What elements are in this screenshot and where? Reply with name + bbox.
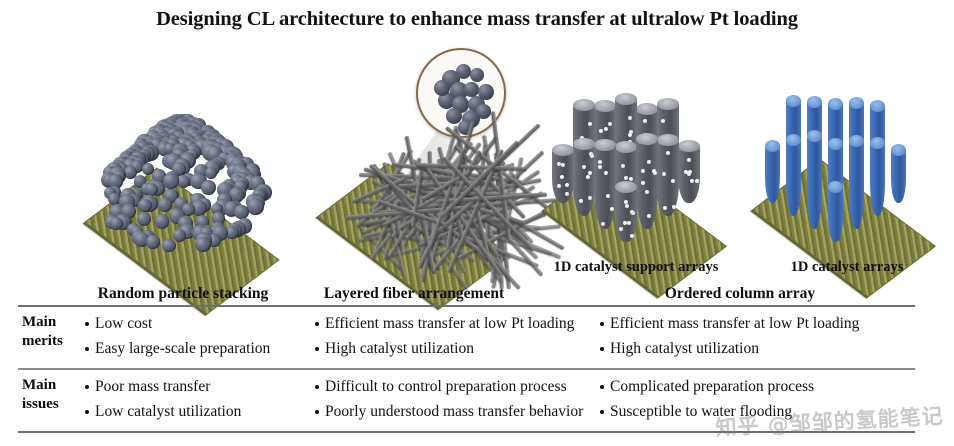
catalyst-rod — [765, 140, 780, 203]
list-item: Difficult to control preparation process — [314, 376, 599, 398]
catalyst-rod — [786, 134, 801, 216]
catalyst-particle — [145, 183, 158, 196]
column-cap — [870, 137, 885, 149]
column-cap — [807, 130, 822, 142]
pt-nanoparticle-dot — [557, 162, 561, 166]
column-cap — [615, 93, 637, 105]
catalyst-support-column — [594, 139, 616, 229]
catalyst-support-column — [678, 140, 700, 203]
scene-layered-fibers — [296, 46, 532, 296]
column-cap — [807, 96, 822, 108]
pt-nanoparticle-dot — [598, 165, 602, 169]
list-item: Low catalyst utilization — [84, 401, 314, 423]
column-body — [594, 145, 616, 229]
catalyst-particle — [247, 198, 263, 214]
catalyst-particle — [137, 212, 151, 226]
column-cap — [552, 144, 574, 156]
list-item: Efficient mass transfer at low Pt loadin… — [314, 313, 599, 335]
column-cap — [636, 133, 658, 145]
column-body — [828, 187, 843, 242]
pt-nanoparticle-dot — [606, 194, 610, 198]
pt-nanoparticle-dot — [582, 165, 586, 169]
catalyst-particle — [162, 239, 175, 252]
pt-nanoparticle-dot — [588, 122, 592, 126]
row-label-line2: merits — [22, 332, 84, 351]
caption-1d-catalyst-support-arrays: 1D catalyst support arrays — [528, 259, 744, 276]
pt-nanoparticle-dot — [653, 171, 657, 175]
caption-layered-fiber-arrangement: Layered fiber arrangement — [296, 285, 532, 303]
pt-nanoparticle-dot — [630, 234, 634, 238]
merits-column-ordered-column-array: Efficient mass transfer at low Pt loadin… — [599, 307, 919, 368]
column-cap — [657, 134, 679, 146]
column-body — [807, 136, 822, 229]
panel-random-particle-stacking — [58, 46, 308, 296]
pt-nanoparticle-dot — [690, 179, 694, 183]
catalyst-particle — [234, 205, 248, 219]
catalyst-rod — [828, 181, 843, 242]
row-label-line1: Main — [22, 376, 84, 395]
row-label-line1: Main — [22, 313, 84, 332]
caption-ordered-column-array: Ordered column array — [530, 285, 950, 303]
merits-column-layered-fiber: Efficient mass transfer at low Pt loadin… — [314, 307, 599, 368]
table-rule-bottom — [18, 431, 915, 433]
pt-nanoparticle-dot — [672, 205, 676, 209]
issues-column-ordered-column-array: Complicated preparation process Suscepti… — [599, 370, 919, 431]
catalyst-rod — [870, 137, 885, 216]
pt-nanoparticle-dot — [601, 222, 605, 226]
list-item: Low cost — [84, 313, 314, 335]
catalyst-support-column — [615, 181, 637, 242]
list-item: Complicated preparation process — [599, 376, 919, 398]
column-cap — [573, 99, 595, 111]
catalyst-rod — [807, 130, 822, 229]
pt-nanoparticle-dot — [619, 227, 623, 231]
column-cap — [891, 144, 906, 156]
issues-column-layered-fiber: Difficult to control preparation process… — [314, 370, 599, 431]
row-label-main-issues: Main issues — [18, 370, 84, 414]
pt-nanoparticle-dot — [663, 206, 667, 210]
column-body — [891, 150, 906, 203]
catalyst-support-column — [552, 144, 574, 203]
catalyst-support-column — [573, 138, 595, 216]
magnified-catalyst-particle — [470, 68, 484, 82]
caption-1d-catalyst-arrays: 1D catalyst arrays — [744, 259, 950, 276]
pt-nanoparticle-dot — [688, 170, 692, 174]
column-cap — [828, 181, 843, 193]
column-cap — [765, 140, 780, 152]
comparison-table: Main merits Low cost Easy large-scale pr… — [18, 305, 915, 433]
column-cap — [594, 100, 616, 112]
column-cap — [657, 98, 679, 110]
table-row-main-issues: Main issues Poor mass transfer Low catal… — [18, 370, 915, 431]
catalyst-particle — [138, 199, 151, 212]
column-cap — [573, 138, 595, 150]
caption-random-particle-stacking: Random particle stacking — [58, 285, 308, 303]
column-body — [849, 141, 864, 229]
column-body — [786, 140, 801, 216]
catalyst-support-column — [636, 133, 658, 229]
fiber-base-slab — [752, 159, 936, 298]
pt-nanoparticle-dot — [630, 210, 634, 214]
column-body — [870, 143, 885, 216]
list-item: High catalyst utilization — [599, 338, 919, 360]
column-cap — [678, 140, 700, 152]
column-cap — [849, 97, 864, 109]
magnified-catalyst-particle — [476, 104, 491, 119]
catalyst-rod — [849, 135, 864, 229]
table-row-main-merits: Main merits Low cost Easy large-scale pr… — [18, 307, 915, 368]
column-cap — [786, 95, 801, 107]
column-cap — [849, 135, 864, 147]
catalyst-particle — [155, 214, 169, 228]
figure-root: Designing CL architecture to enhance mas… — [0, 0, 954, 446]
column-cap — [636, 103, 658, 115]
pt-nanoparticle-dot — [627, 221, 631, 225]
merits-column-random-particle: Low cost Easy large-scale preparation — [84, 307, 314, 368]
list-item: Poorly understood mass transfer behavior — [314, 401, 599, 423]
column-cap — [594, 139, 616, 151]
pt-nanoparticle-dot — [695, 179, 699, 183]
catalyst-support-column — [657, 134, 679, 216]
figure-title: Designing CL architecture to enhance mas… — [0, 8, 954, 31]
list-item: Susceptible to water flooding — [599, 401, 919, 423]
magnified-catalyst-particle — [464, 82, 479, 97]
catalyst-particle — [158, 198, 172, 212]
column-cap — [828, 98, 843, 110]
list-item: Easy large-scale preparation — [84, 338, 314, 360]
row-label-line2: issues — [22, 395, 84, 414]
catalyst-particle — [110, 217, 123, 230]
pt-nanoparticle-dot — [565, 192, 569, 196]
column-cap — [615, 141, 637, 153]
catalyst-rod — [891, 144, 906, 203]
issues-column-random-particle: Poor mass transfer Low catalyst utilizat… — [84, 370, 314, 431]
column-cap — [828, 138, 843, 150]
column-cap — [870, 100, 885, 112]
pt-nanoparticle-dot — [624, 200, 628, 204]
catalyst-particle — [195, 237, 211, 253]
panel-layered-fiber-arrangement — [296, 46, 532, 296]
list-item: High catalyst utilization — [314, 338, 599, 360]
column-cap — [615, 181, 637, 193]
row-label-main-merits: Main merits — [18, 307, 84, 351]
catalyst-particle — [201, 180, 216, 195]
scene-random-particles — [58, 46, 308, 296]
pt-nanoparticle-dot — [641, 169, 645, 173]
list-item: Efficient mass transfer at low Pt loadin… — [599, 313, 919, 335]
column-cap — [786, 134, 801, 146]
list-item: Poor mass transfer — [84, 376, 314, 398]
column-body — [765, 146, 780, 203]
magnified-catalyst-particle — [456, 64, 471, 79]
pt-nanoparticle-dot — [666, 151, 670, 155]
pt-nanoparticle-dot — [629, 130, 633, 134]
magnified-catalyst-particle — [478, 84, 494, 100]
pt-nanoparticle-dot — [661, 119, 665, 123]
